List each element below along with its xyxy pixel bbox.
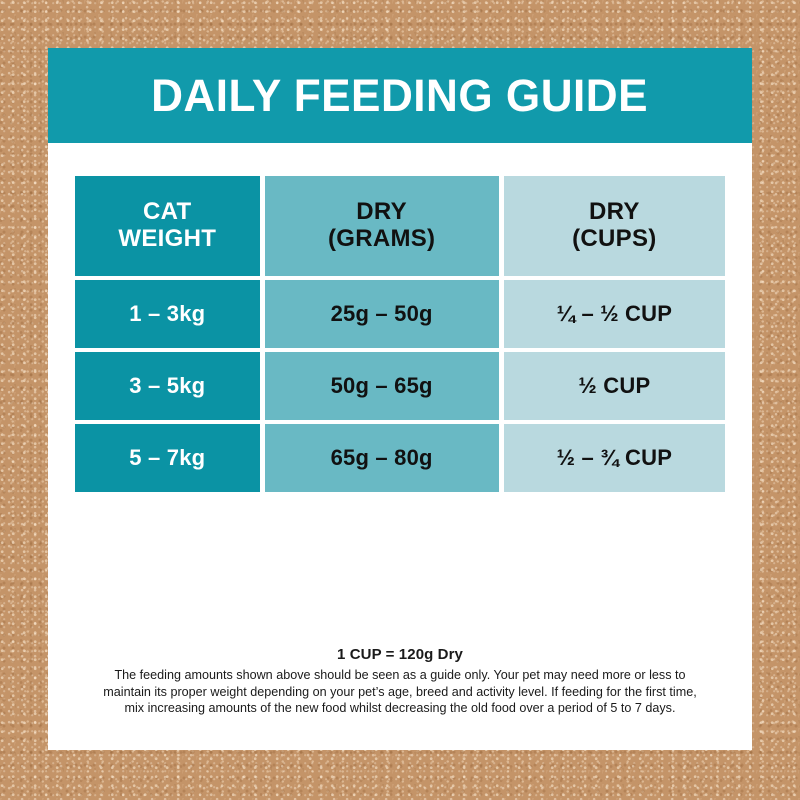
- cell-cat-weight: 1 – 3kg: [75, 280, 260, 348]
- disclaimer-line: mix increasing amounts of the new food w…: [83, 700, 717, 717]
- cell-dry-grams: 50g – 65g: [265, 352, 499, 420]
- table-header-row: CAT WEIGHT DRY (GRAMS) DRY (CUPS): [75, 176, 725, 276]
- feeding-disclaimer: The feeding amounts shown above should b…: [75, 667, 725, 717]
- header-line: (GRAMS): [328, 226, 435, 253]
- cell-dry-cups: ½ – ¾ CUP: [504, 424, 725, 492]
- table-row: 1 – 3kg 25g – 50g ¼ – ½ CUP: [75, 280, 725, 348]
- page-background: DAILY FEEDING GUIDE CAT WEIGHT DRY (GRAM…: [0, 0, 800, 800]
- header-cell-dry-cups: DRY (CUPS): [504, 176, 725, 276]
- header-cell-dry-grams: DRY (GRAMS): [265, 176, 499, 276]
- disclaimer-line: maintain its proper weight depending on …: [83, 684, 717, 701]
- cell-dry-grams: 65g – 80g: [265, 424, 499, 492]
- table-row: 5 – 7kg 65g – 80g ½ – ¾ CUP: [75, 424, 725, 492]
- header-line: DRY: [572, 199, 656, 226]
- cell-cat-weight: 3 – 5kg: [75, 352, 260, 420]
- header-cell-cat-weight: CAT WEIGHT: [75, 176, 260, 276]
- table-row: 3 – 5kg 50g – 65g ½ CUP: [75, 352, 725, 420]
- cup-conversion-note: 1 CUP = 120g Dry: [75, 646, 725, 663]
- daily-feeding-table: CAT WEIGHT DRY (GRAMS) DRY (CUPS): [75, 176, 725, 492]
- cell-cat-weight: 5 – 7kg: [75, 424, 260, 492]
- header-line: CAT: [118, 199, 216, 226]
- cell-dry-cups: ½ CUP: [504, 352, 725, 420]
- feeding-guide-card: DAILY FEEDING GUIDE CAT WEIGHT DRY (GRAM…: [48, 48, 752, 750]
- disclaimer-line: The feeding amounts shown above should b…: [83, 667, 717, 684]
- header-line: (CUPS): [572, 226, 656, 253]
- header-line: DRY: [328, 199, 435, 226]
- header-line: WEIGHT: [118, 226, 216, 253]
- title-banner: DAILY FEEDING GUIDE: [48, 48, 752, 143]
- footer-section: 1 CUP = 120g Dry The feeding amounts sho…: [75, 646, 725, 717]
- cell-dry-grams: 25g – 50g: [265, 280, 499, 348]
- cell-dry-cups: ¼ – ½ CUP: [504, 280, 725, 348]
- page-title: DAILY FEEDING GUIDE: [152, 73, 649, 118]
